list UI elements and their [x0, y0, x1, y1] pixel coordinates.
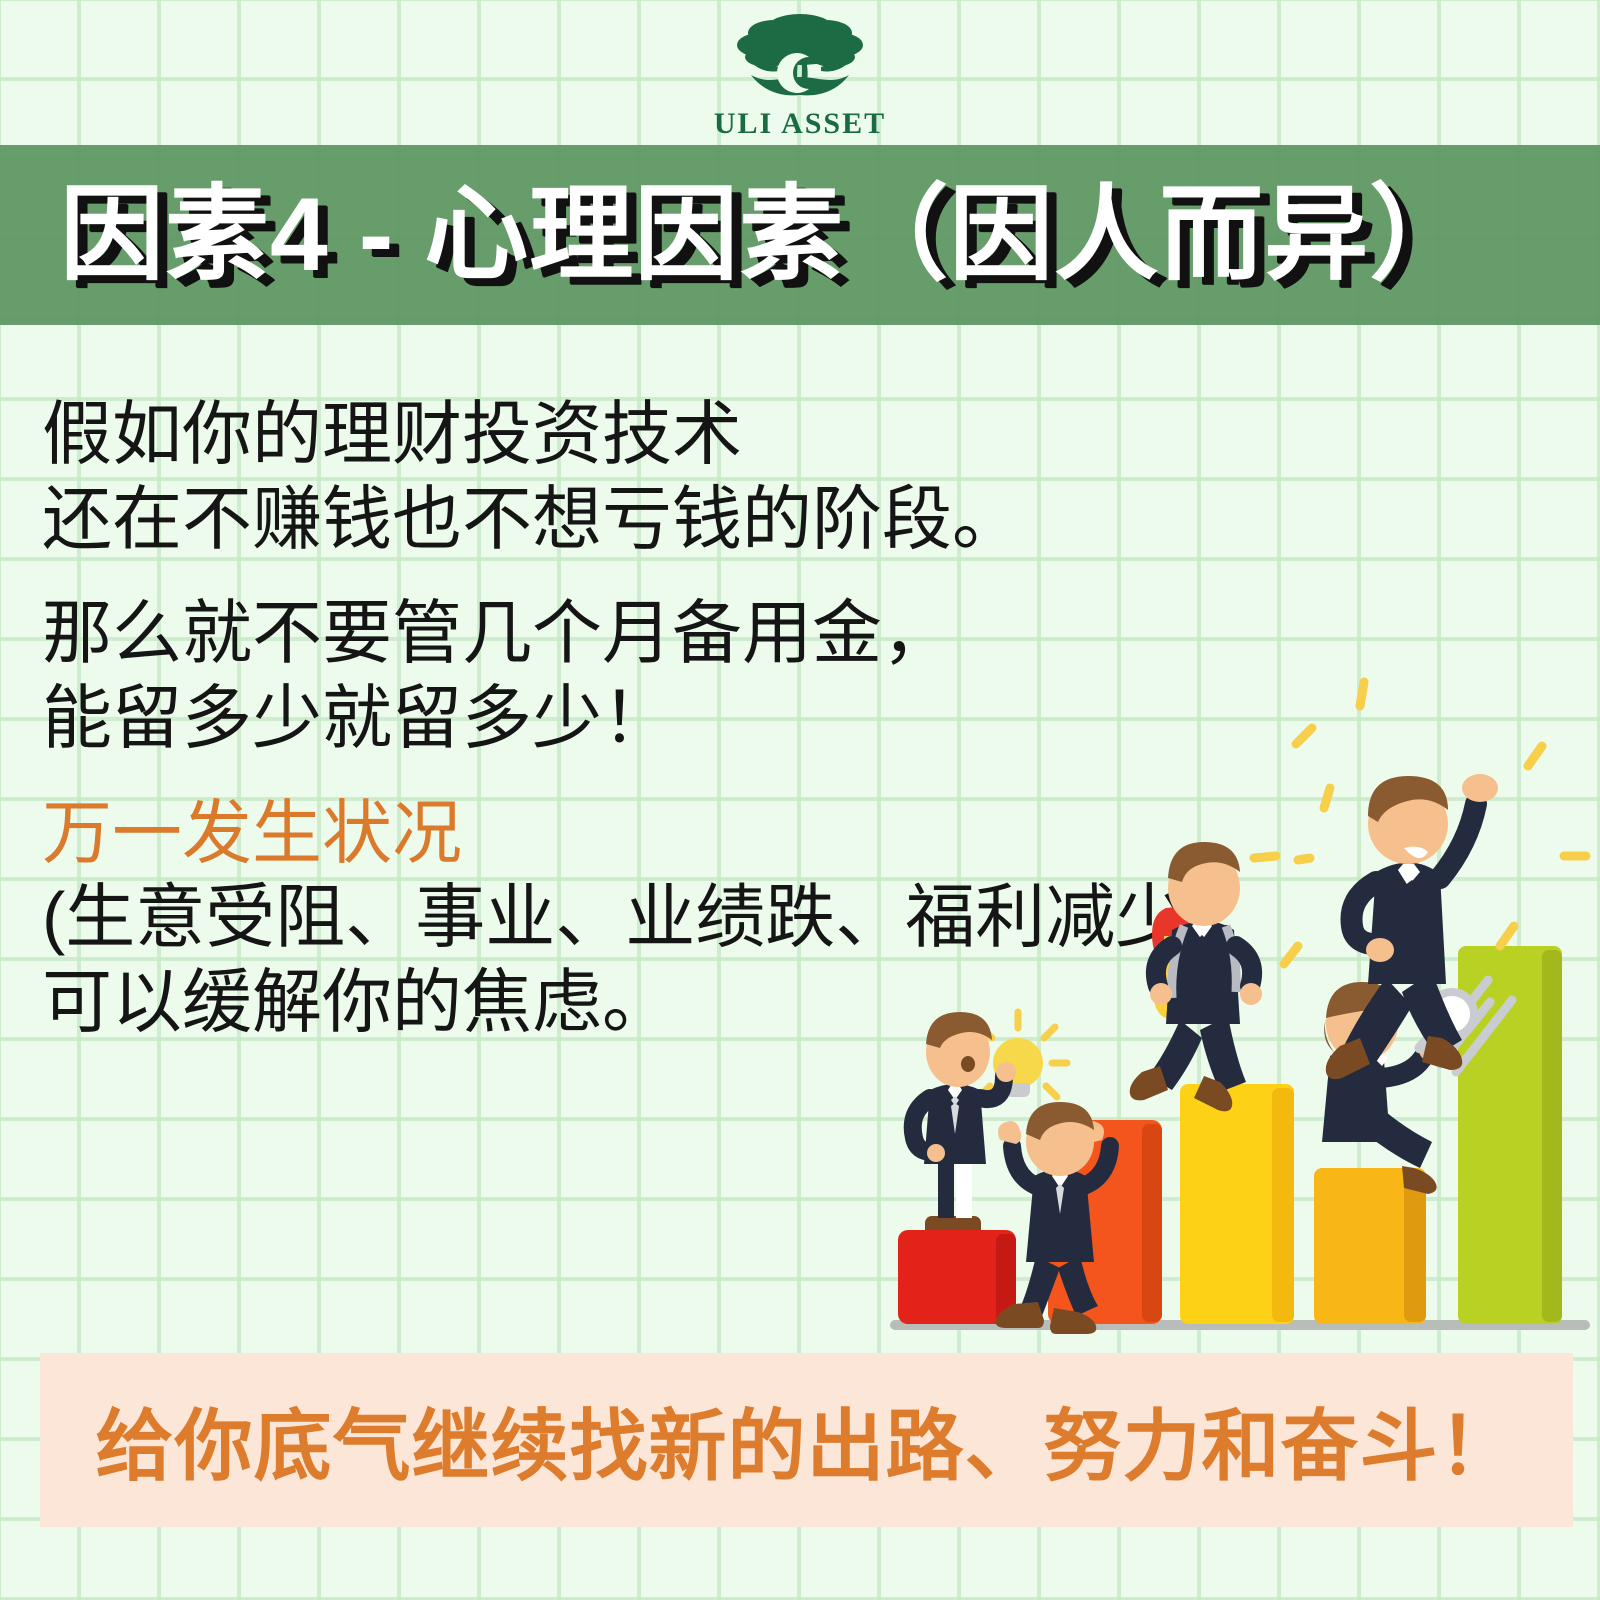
- bar-3: [1180, 1084, 1294, 1324]
- banner-text: 给你底气继续找新的出路、努力和奋斗！: [95, 1384, 1517, 1496]
- bar-4: [1314, 1168, 1426, 1324]
- brand-logo: ULI ASSET: [0, 0, 1600, 145]
- jetpack-figure: [1130, 842, 1262, 1111]
- brand-wordmark: ULI ASSET: [714, 107, 886, 141]
- paragraph-1: 假如你的理财投资技术 还在不赚钱也不想亏钱的阶段。: [42, 392, 1222, 561]
- bar-1: [898, 1230, 1016, 1324]
- infographic-page: ULI ASSET 因素4 - 心理因素（因人而异） 假如你的理财投资技术 还在…: [0, 0, 1600, 1600]
- title-band: 因素4 - 心理因素（因人而异）: [0, 145, 1600, 325]
- idea-figure: [913, 1012, 1016, 1230]
- tree-logo-icon: [729, 5, 871, 113]
- bar-chart-illustration: [880, 620, 1600, 1350]
- copy-line: 假如你的理财投资技术: [42, 392, 1222, 477]
- page-title: 因素4 - 心理因素（因人而异）: [60, 183, 1474, 287]
- bottom-banner: 给你底气继续找新的出路、努力和奋斗！: [40, 1353, 1573, 1527]
- copy-line: 还在不赚钱也不想亏钱的阶段。: [42, 477, 1222, 562]
- bar-chart-svg: [880, 620, 1600, 1350]
